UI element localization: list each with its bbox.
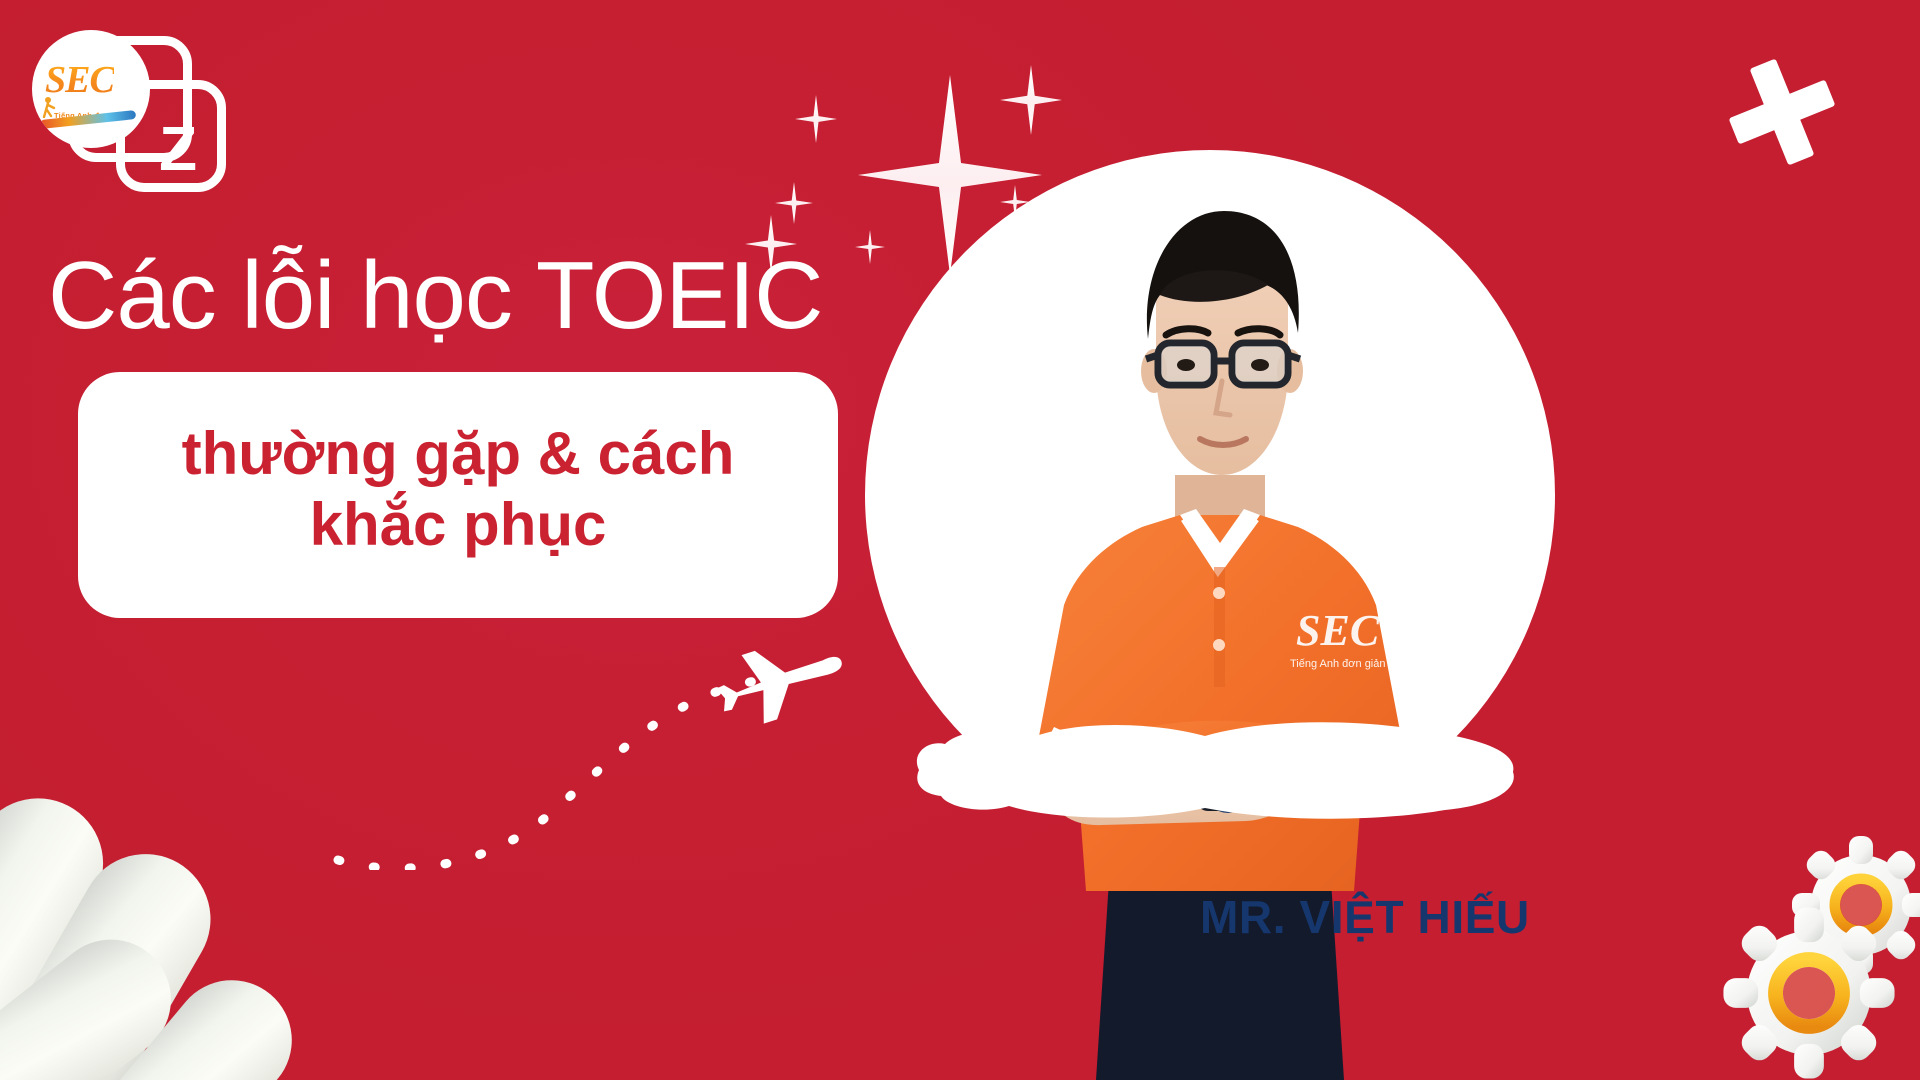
sec-logo-badge: SEC Tiếng Anh đơn giản bbox=[32, 30, 150, 148]
sparkle-star-icon bbox=[1000, 65, 1062, 135]
gear-icon bbox=[1716, 900, 1902, 1080]
sparkle-star-icon bbox=[795, 95, 837, 143]
subtitle-card: thường gặp & cách khắc phục bbox=[78, 372, 838, 618]
page-title: Các lỗi học TOEIC bbox=[48, 248, 878, 344]
plus-cross-icon bbox=[1714, 44, 1849, 179]
name-brush-ribbon bbox=[905, 710, 1525, 830]
slide-canvas: Z SEC Tiếng Anh đơn giản Các lỗi học TOE… bbox=[0, 0, 1920, 1080]
speaker-name: MR. VIỆT HIẾU bbox=[1200, 890, 1670, 944]
sec-logo-text: SEC bbox=[45, 61, 114, 99]
sec-logo-runner-icon bbox=[42, 96, 62, 118]
subtitle-line-2: khắc phục bbox=[310, 490, 607, 561]
speaker-portrait: SEC Tiếng Anh đơn giản bbox=[960, 175, 1480, 1080]
logo-card-letter: Z bbox=[148, 110, 208, 190]
subtitle-line-1: thường gặp & cách bbox=[182, 419, 735, 490]
svg-text:Tiếng Anh đơn giản: Tiếng Anh đơn giản bbox=[1290, 658, 1386, 670]
brand-logo[interactable]: Z SEC Tiếng Anh đơn giản bbox=[20, 18, 230, 203]
svg-text:SEC: SEC bbox=[1296, 606, 1380, 655]
